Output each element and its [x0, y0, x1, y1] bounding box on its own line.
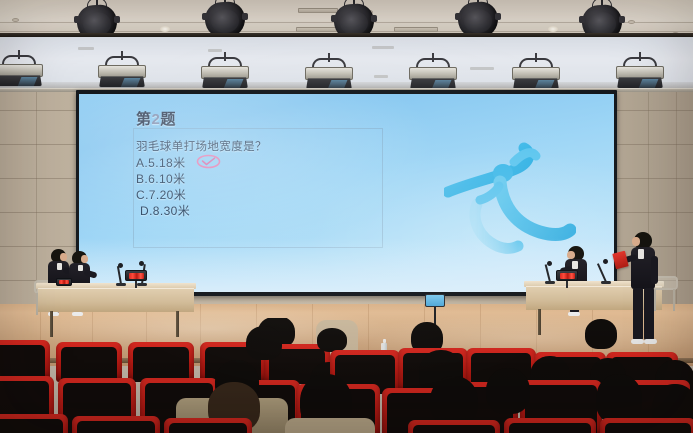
- audience-person: [430, 376, 478, 426]
- audience-person: [317, 328, 347, 352]
- smoke-detector-icon: [628, 20, 635, 24]
- slide-option-c: C.7.20米: [136, 186, 186, 203]
- audience-person: [246, 326, 282, 360]
- fresnel-stage-light: [302, 53, 356, 89]
- fresnel-stage-light: [406, 53, 460, 89]
- projection-screen: 第2题 羽毛球单打场地宽度是？ A.5.18米 B.6.10米 C.7.20米 …: [79, 94, 614, 292]
- slide-title: 第2题: [136, 108, 176, 129]
- auditorium-scene-photo: 第2题 羽毛球单打场地宽度是？ A.5.18米 B.6.10米 C.7.20米 …: [0, 0, 693, 433]
- auditorium-seat[interactable]: [128, 342, 194, 382]
- microphone: [120, 266, 122, 284]
- fresnel-stage-light: [95, 51, 149, 87]
- auditorium-seat[interactable]: [0, 414, 68, 433]
- slide-option-d: D.8.30米: [140, 202, 190, 219]
- fresnel-stage-light: [0, 50, 46, 86]
- fresnel-stage-light: [613, 52, 667, 88]
- audience-person: [486, 368, 530, 414]
- pink-check-oval-icon: [196, 154, 221, 169]
- slide-option-b: B.6.10米: [136, 170, 186, 187]
- audience-person-coat: [285, 418, 375, 433]
- microphone: [549, 264, 551, 282]
- ceiling-vent: [394, 27, 438, 32]
- auditorium-seat[interactable]: [0, 340, 50, 380]
- slide-title-suffix: 题: [160, 111, 176, 128]
- scoreboard-right[interactable]: [556, 270, 578, 281]
- auditorium-seat[interactable]: [408, 420, 500, 433]
- slide-question: 羽毛球单打场地宽度是？: [136, 138, 267, 154]
- audience-person: [596, 374, 642, 424]
- ceiling-downlight: [548, 26, 558, 32]
- slide-option-a: A.5.18米: [136, 154, 186, 171]
- fresnel-stage-light: [198, 52, 252, 88]
- scoreboard-left-small[interactable]: [56, 278, 72, 286]
- auditorium-seat[interactable]: [600, 418, 693, 433]
- ceiling-downlight: [160, 26, 170, 32]
- audience-person: [585, 319, 617, 349]
- smoke-detector-icon: [12, 18, 19, 22]
- auditorium-seat[interactable]: [164, 418, 252, 433]
- fresnel-stage-light: [509, 53, 563, 89]
- scoreboard-left[interactable]: [125, 270, 147, 281]
- auditorium-seat[interactable]: [56, 342, 122, 382]
- badminton-athlete-logo-icon: [444, 142, 576, 264]
- slide-title-prefix: 第: [136, 111, 152, 128]
- auditorium-seat[interactable]: [72, 416, 160, 433]
- audience-area: [0, 318, 693, 433]
- microphone: [605, 262, 607, 282]
- projection-screen-frame: 第2题 羽毛球单打场地宽度是？ A.5.18米 B.6.10米 C.7.20米 …: [76, 90, 617, 296]
- auditorium-seat[interactable]: [504, 418, 596, 433]
